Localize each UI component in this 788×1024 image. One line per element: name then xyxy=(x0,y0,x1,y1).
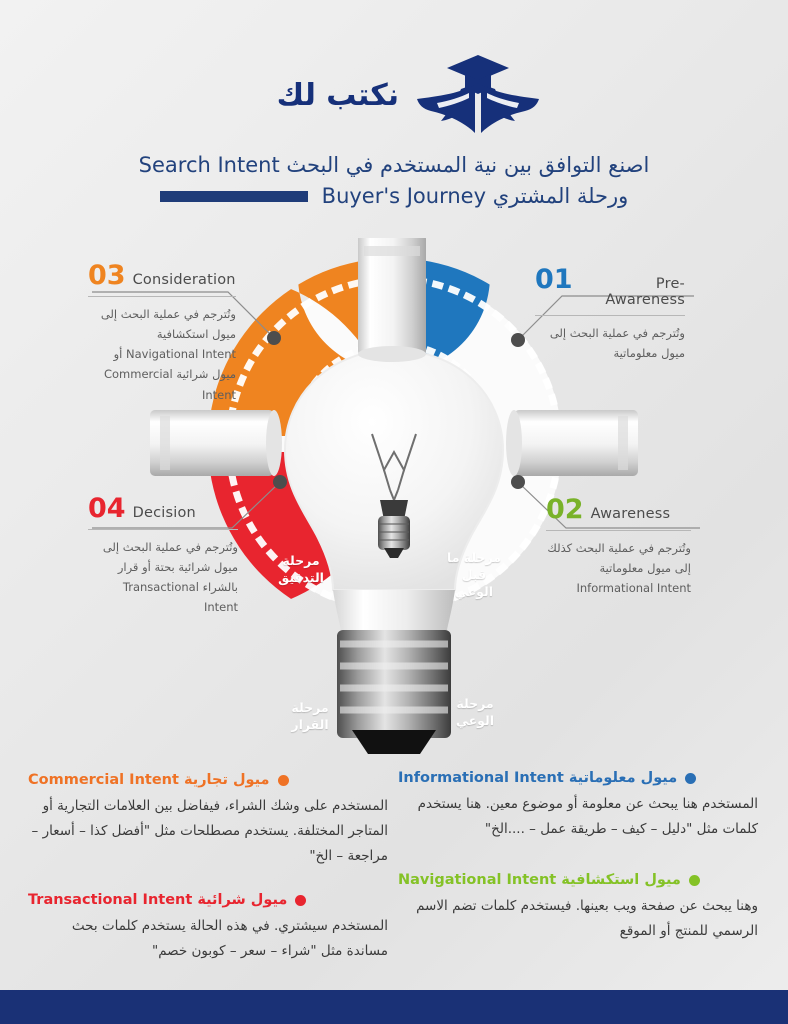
legend-title: ميول استكشافية Navigational Intent xyxy=(398,872,681,888)
callout-number: 03 xyxy=(88,262,126,289)
callout-pre-awareness: 01 Pre-Awareness وتُترجم في عملية البحث … xyxy=(535,266,685,363)
legend-item-commercial: ميول تجارية Commercial Intent المستخدم ع… xyxy=(28,772,388,869)
callout-head: 04 Decision xyxy=(88,495,238,522)
callout-head: 01 Pre-Awareness xyxy=(535,266,685,308)
intent-legend: ميول معلوماتية Informational Intent المس… xyxy=(0,762,788,987)
segment-label-pre-awareness: مرحلة ما قبل الوعي xyxy=(443,550,505,601)
callout-name: Decision xyxy=(133,505,196,521)
bullet-dot-icon xyxy=(689,875,700,886)
callout-decision: 04 Decision وتُترجم في عملية البحث إلى م… xyxy=(88,495,238,618)
callout-body: وتُترجم في عملية البحث إلى ميول استكشافي… xyxy=(88,304,236,405)
callout-name: Awareness xyxy=(591,506,671,522)
callout-rule xyxy=(535,315,685,316)
header: نكتب لك xyxy=(0,42,788,142)
page-title: اصنع التوافق بين نية المستخدم في البحث S… xyxy=(0,150,788,208)
callout-rule xyxy=(88,296,236,297)
legend-body: المستخدم سيشتري. في هذه الحالة يستخدم كل… xyxy=(28,914,388,964)
brand-name: نكتب لك xyxy=(277,78,399,113)
legend-head: ميول معلوماتية Informational Intent xyxy=(398,770,758,786)
callout-body: وتُترجم في عملية البحث إلى ميول شرائية ب… xyxy=(88,537,238,618)
legend-item-navigational: ميول استكشافية Navigational Intent وهنا … xyxy=(398,872,758,944)
footer-bar xyxy=(0,990,788,1024)
callout-number: 02 xyxy=(546,496,584,523)
legend-body: المستخدم على وشك الشراء، فيفاضل بين العل… xyxy=(28,794,388,869)
legend-body: وهنا يبحث عن صفحة ويب بعينها. فيستخدم كل… xyxy=(398,894,758,944)
legend-title: ميول شرائية Transactional Intent xyxy=(28,892,287,908)
title-line-1: اصنع التوافق بين نية المستخدم في البحث S… xyxy=(0,150,788,180)
callout-number: 04 xyxy=(88,495,126,522)
connector-tube-left xyxy=(150,410,282,476)
connector-tube-top xyxy=(358,238,426,362)
brand-logo: نكتب لك xyxy=(243,50,543,140)
bulb-neck xyxy=(333,590,455,630)
title-accent-bar xyxy=(160,191,308,202)
callout-head: 02 Awareness xyxy=(546,496,691,523)
segment-label-awareness: مرحلة الوعي xyxy=(444,696,506,730)
callout-rule xyxy=(546,530,691,531)
graduation-cap-book-logo-icon xyxy=(413,53,543,137)
callout-consideration: 03 Consideration وتُترجم في عملية البحث … xyxy=(88,262,236,405)
legend-item-informational: ميول معلوماتية Informational Intent المس… xyxy=(398,770,758,842)
legend-body: المستخدم هنا يبحث عن معلومة أو موضوع معي… xyxy=(398,792,758,842)
callout-head: 03 Consideration xyxy=(88,262,236,289)
segment-label-decision: مرحلة القرار xyxy=(279,700,341,734)
bullet-dot-icon xyxy=(685,773,696,784)
title-line-2: ورحلة المشتري Buyer's Journey xyxy=(322,184,629,208)
bulb-screw-base xyxy=(337,630,451,754)
callout-name: Pre-Awareness xyxy=(580,276,685,308)
callout-rule xyxy=(88,529,238,530)
callout-name: Consideration xyxy=(133,272,236,288)
title-line-2-row: ورحلة المشتري Buyer's Journey xyxy=(0,184,788,208)
infographic-page: نكتب لك اصنع التوافق بين نية المستخدم في… xyxy=(0,0,788,1024)
bullet-dot-icon xyxy=(278,775,289,786)
legend-head: ميول استكشافية Navigational Intent xyxy=(398,872,758,888)
legend-item-transactional: ميول شرائية Transactional Intent المستخد… xyxy=(28,892,388,964)
callout-body: وتُترجم في عملية البحث إلى ميول معلوماتي… xyxy=(535,323,685,363)
callout-body: وتُترجم في عملية البحث كذلك إلى ميول معل… xyxy=(546,538,691,598)
legend-head: ميول تجارية Commercial Intent xyxy=(28,772,388,788)
callout-awareness: 02 Awareness وتُترجم في عملية البحث كذلك… xyxy=(546,496,691,598)
legend-title: ميول تجارية Commercial Intent xyxy=(28,772,270,788)
bullet-dot-icon xyxy=(295,895,306,906)
callout-number: 01 xyxy=(535,266,573,293)
legend-title: ميول معلوماتية Informational Intent xyxy=(398,770,677,786)
legend-head: ميول شرائية Transactional Intent xyxy=(28,892,388,908)
segment-label-consideration: مرحلة التدقيق xyxy=(268,553,334,587)
connector-tube-right xyxy=(506,410,638,476)
